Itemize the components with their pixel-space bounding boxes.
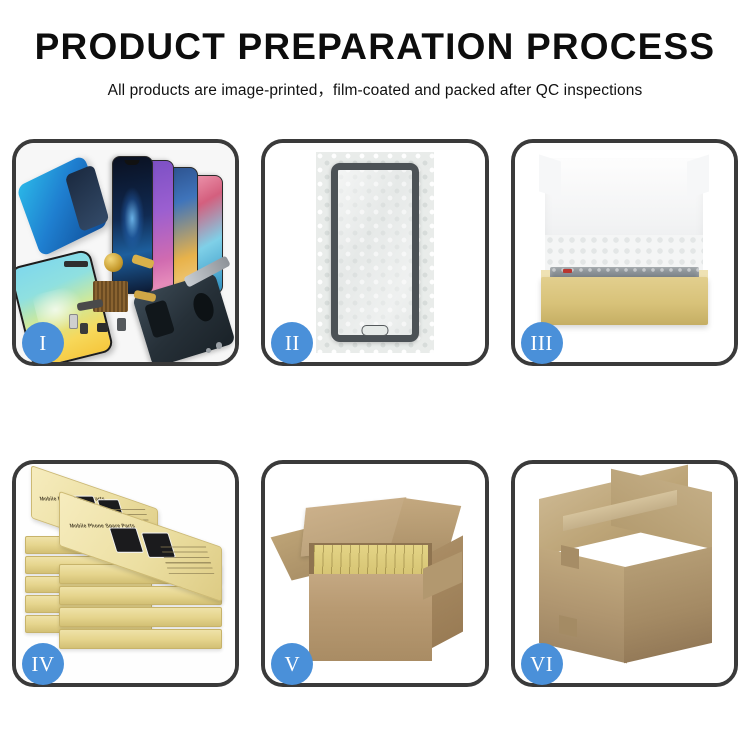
small-part-2: [97, 323, 108, 333]
speaker-bar-part: [64, 261, 88, 267]
kraft-inner-box: [541, 277, 708, 325]
phone-adhesive-frame: [16, 155, 108, 258]
screen-label-mark: [563, 269, 572, 273]
box-lid-spec-lines-front: [160, 543, 215, 572]
step-badge-6: VI: [521, 643, 563, 685]
step-panel-3: III: [511, 139, 738, 366]
page-subtitle: All products are image-printed，film-coat…: [0, 78, 750, 100]
steps-grid: I II III: [12, 139, 738, 687]
step-panel-2: II: [261, 139, 488, 366]
step-panel-4: Mobile Phone Spare Parts Mobile Phone Sp…: [12, 460, 239, 687]
screw-part-1: [216, 342, 223, 349]
step-panel-1: I: [12, 139, 239, 366]
screen-sheen: [338, 170, 412, 336]
stacked-box-r4: [59, 629, 222, 649]
product-preparation-infographic: PRODUCT PREPARATION PROCESS All products…: [0, 0, 750, 750]
small-part-3: [117, 318, 126, 331]
step-panel-6: VI: [511, 460, 738, 687]
small-part-1: [80, 323, 89, 334]
box-stack: Mobile Phone Spare Parts Mobile Phone Sp…: [25, 477, 227, 674]
stacked-box-r3: [59, 607, 222, 627]
packed-inner-boxes: [314, 545, 428, 576]
phone-blue-glow: [112, 156, 153, 294]
step-panel-5: V: [261, 460, 488, 687]
wrapped-screen: [331, 163, 419, 343]
step-badge-1: I: [22, 322, 64, 364]
phone-notch: [125, 160, 140, 165]
carton-front-face: [309, 574, 432, 662]
box-lid-phone-image-3: [109, 527, 145, 553]
sealed-carton-side: [624, 547, 712, 664]
small-part-4: [69, 314, 78, 329]
carton-handle-tab-top: [561, 545, 579, 569]
phone-fan-group: [104, 158, 236, 294]
screw-part-2: [206, 348, 212, 354]
header: PRODUCT PREPARATION PROCESS All products…: [0, 0, 750, 100]
page-title: PRODUCT PREPARATION PROCESS: [0, 28, 750, 67]
step-badge-3: III: [521, 322, 563, 364]
step-badge-4: IV: [22, 643, 64, 685]
